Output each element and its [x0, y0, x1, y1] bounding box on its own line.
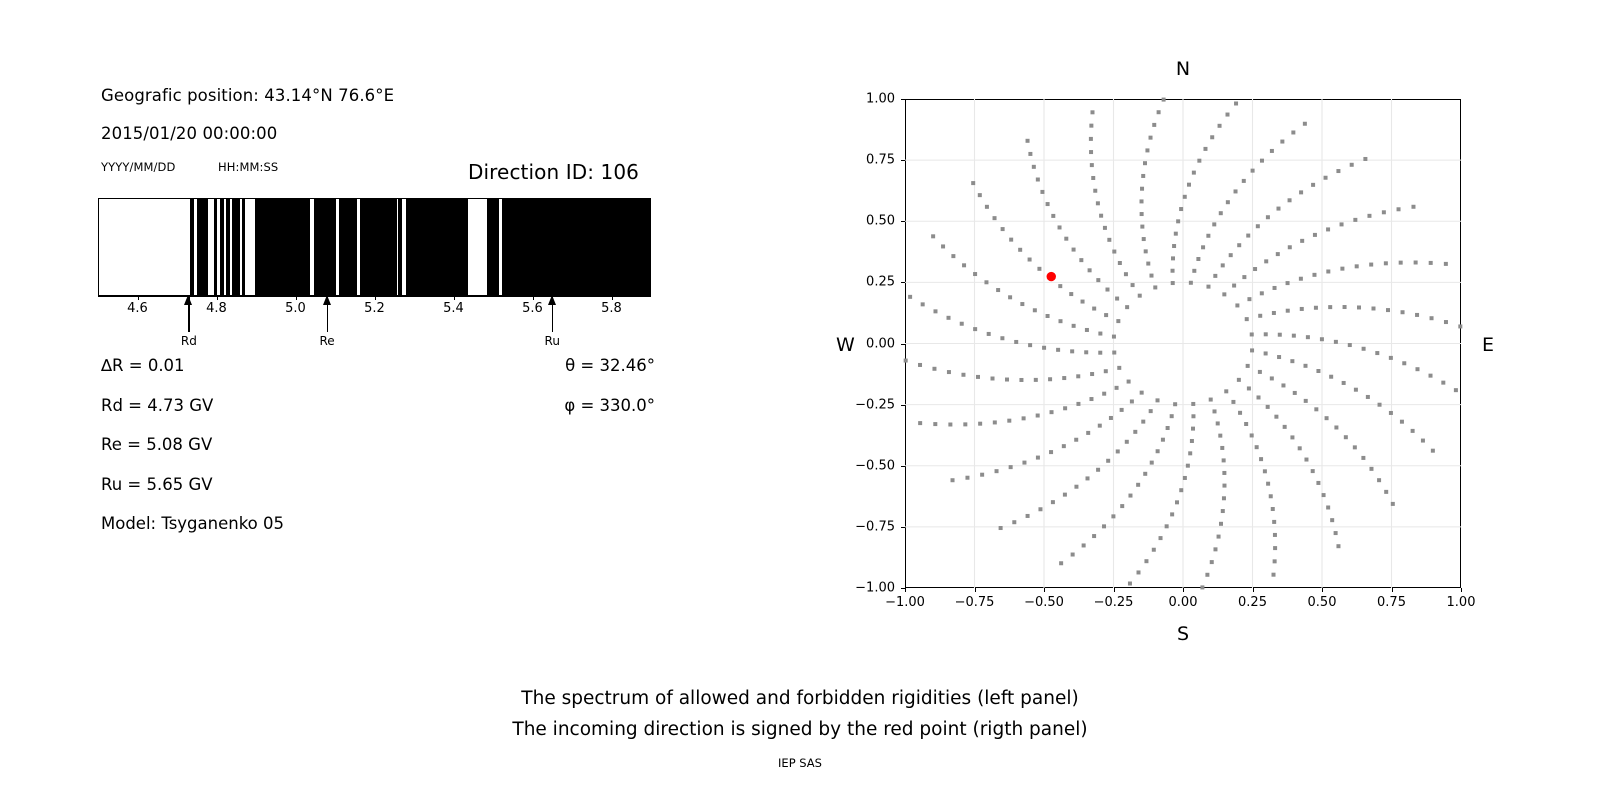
direction-dot: [1276, 207, 1280, 211]
direction-dot: [1037, 267, 1041, 271]
direction-dot: [1056, 348, 1060, 352]
direction-dot: [1293, 391, 1297, 395]
direction-dot: [1400, 420, 1404, 424]
direction-dot: [1074, 485, 1078, 489]
direction-dot: [1141, 174, 1145, 178]
direction-dot: [1271, 507, 1275, 511]
direction-dot: [1096, 201, 1100, 205]
direction-dot: [1238, 411, 1242, 415]
direction-dot: [1200, 585, 1204, 589]
direction-dot: [1222, 458, 1226, 462]
forbidden-band: [226, 199, 230, 295]
direction-dot: [1344, 435, 1348, 439]
direction-dot: [1090, 110, 1094, 114]
direction-dot: [996, 288, 1000, 292]
direction-dot: [1098, 424, 1102, 428]
direction-dot: [1378, 403, 1382, 407]
x-axis-tick: [1392, 588, 1393, 592]
direction-dot: [1048, 377, 1052, 381]
y-axis-tick-label: −0.25: [823, 397, 895, 412]
direction-dot: [1300, 239, 1304, 243]
direction-dot: [951, 254, 955, 258]
y-axis-tick: [901, 344, 905, 345]
direction-dot: [1206, 285, 1210, 289]
direction-dot: [1290, 359, 1294, 363]
direction-dot: [1430, 316, 1434, 320]
direction-dot: [1000, 336, 1004, 340]
direction-dot: [1058, 284, 1062, 288]
direction-dot: [1299, 277, 1303, 281]
direction-dot: [1291, 130, 1295, 134]
direction-dot: [1311, 183, 1315, 187]
forbidden-band: [339, 199, 357, 295]
direction-dot: [1104, 313, 1108, 317]
direction-dot: [1329, 375, 1333, 379]
y-axis-tick-label: 0.00: [823, 336, 895, 351]
direction-dot: [1124, 272, 1128, 276]
direction-dot: [1316, 369, 1320, 373]
direction-dot: [1325, 416, 1329, 420]
direction-dot: [1098, 332, 1102, 336]
direction-dot: [1259, 457, 1263, 461]
direction-dot: [1111, 514, 1115, 518]
direction-dot: [1085, 328, 1089, 332]
direction-dot: [1292, 334, 1296, 338]
direction-dot: [1081, 300, 1085, 304]
direction-dot: [1032, 165, 1036, 169]
rigidity-axis: 4.64.85.05.25.45.65.8RdReRu: [98, 296, 651, 348]
direction-dot: [1298, 446, 1302, 450]
direction-dot: [1328, 305, 1332, 309]
forbidden-band: [314, 199, 336, 295]
direction-dot: [965, 476, 969, 480]
direction-dot: [1072, 324, 1076, 328]
direction-dot: [1389, 356, 1393, 360]
direction-dot: [984, 280, 988, 284]
direction-dot: [1353, 218, 1357, 222]
y-axis-tick-label: 0.25: [823, 275, 895, 290]
direction-dot: [1222, 484, 1226, 488]
direction-dot: [1384, 490, 1388, 494]
rigidity-axis-tick: [217, 296, 218, 300]
rigidity-axis-tick: [612, 296, 613, 300]
direction-dot: [1222, 292, 1226, 296]
direction-dot: [1366, 395, 1370, 399]
direction-dot: [1258, 314, 1262, 318]
direction-dot: [1064, 237, 1068, 241]
direction-dot: [1036, 414, 1040, 418]
direction-dot: [1096, 468, 1100, 472]
direction-dot: [1231, 400, 1235, 404]
direction-dot: [1020, 302, 1024, 306]
direction-dot: [978, 193, 982, 197]
direction-dot: [933, 422, 937, 426]
direction-dot: [1179, 207, 1183, 211]
direction-dot: [1022, 416, 1026, 420]
footer-credit: IEP SAS: [0, 756, 1600, 770]
y-axis-tick-label: −0.75: [823, 519, 895, 534]
direction-dot: [1250, 433, 1254, 437]
direction-dot: [1187, 183, 1191, 187]
direction-dot: [1173, 402, 1177, 406]
direction-dot: [1399, 261, 1403, 265]
arrow-up-icon: [184, 295, 192, 305]
direction-dot: [1062, 444, 1066, 448]
direction-dot: [1421, 439, 1425, 443]
direction-dot: [1191, 427, 1195, 431]
direction-dot: [1051, 500, 1055, 504]
direction-dot: [918, 421, 922, 425]
direction-dot: [1175, 500, 1179, 504]
direction-dot: [991, 376, 995, 380]
direction-dot: [1222, 496, 1226, 500]
direction-dot: [993, 420, 997, 424]
direction-dot: [1429, 374, 1433, 378]
direction-dot: [1218, 434, 1222, 438]
param-phi: φ = 330.0°: [455, 396, 655, 415]
direction-dot: [1218, 124, 1222, 128]
direction-dot: [1089, 150, 1093, 154]
direction-dot: [1367, 214, 1371, 218]
direction-dot: [1311, 469, 1315, 473]
direction-dot: [980, 473, 984, 477]
direction-dot: [1012, 520, 1016, 524]
forbidden-band: [398, 199, 401, 295]
y-axis-tick: [901, 466, 905, 467]
direction-dot: [1402, 361, 1406, 365]
direction-dot: [1221, 509, 1225, 513]
x-axis-tick-label: −0.50: [1024, 595, 1064, 610]
direction-dot: [1334, 531, 1338, 535]
direction-dot: [995, 469, 999, 473]
selected-direction-point[interactable]: [1047, 272, 1056, 281]
y-axis-tick-label: 1.00: [823, 92, 895, 107]
direction-dot: [931, 234, 935, 238]
direction-dot: [1150, 461, 1154, 465]
direction-dot: [1086, 431, 1090, 435]
direction-dot: [1205, 573, 1209, 577]
direction-dot: [1127, 380, 1131, 384]
direction-dot: [976, 375, 980, 379]
direction-dot: [1146, 262, 1150, 266]
direction-dot: [1377, 478, 1381, 482]
direction-dot: [1382, 210, 1386, 214]
y-axis-tick: [901, 282, 905, 283]
direction-dot: [1270, 149, 1274, 153]
direction-dot: [1104, 369, 1108, 373]
direction-dot: [1038, 507, 1042, 511]
direction-dot: [1454, 388, 1458, 392]
y-axis-tick: [901, 99, 905, 100]
direction-dot: [1411, 429, 1415, 433]
direction-dot: [1444, 320, 1448, 324]
direction-dot: [904, 359, 908, 363]
direction-dot: [1036, 456, 1040, 460]
direction-dot: [973, 327, 977, 331]
direction-dot: [1342, 381, 1346, 385]
direction-dot: [1128, 494, 1132, 498]
direction-dot: [1246, 364, 1250, 368]
direction-dot: [1326, 227, 1330, 231]
direction-dot: [1141, 420, 1145, 424]
direction-dot: [1353, 445, 1357, 449]
direction-dot: [1401, 310, 1405, 314]
forbidden-band: [220, 199, 224, 295]
direction-dot: [1389, 411, 1393, 415]
datetime-label: 2015/01/20 00:00:00: [101, 124, 277, 143]
direction-dot: [1361, 456, 1365, 460]
direction-dot: [1244, 422, 1248, 426]
direction-dot: [1357, 305, 1361, 309]
direction-dot: [1128, 582, 1132, 586]
direction-dot: [1290, 435, 1294, 439]
direction-dot: [1348, 343, 1352, 347]
param-re: Re = 5.08 GV: [101, 435, 212, 454]
direction-dot: [1072, 248, 1076, 252]
direction-dot: [1142, 237, 1146, 241]
forbidden-band: [360, 199, 397, 295]
direction-dot: [1324, 176, 1328, 180]
direction-dot: [1260, 159, 1264, 163]
direction-dot: [1153, 285, 1157, 289]
param-model: Model: Tsyganenko 05: [101, 514, 284, 533]
rigidity-axis-tick: [296, 296, 297, 300]
direction-dot: [1216, 421, 1220, 425]
direction-dot: [1079, 258, 1083, 262]
direction-dot: [1274, 415, 1278, 419]
direction-dot: [1143, 472, 1147, 476]
param-delta-r: ∆R = 0.01: [101, 356, 185, 375]
direction-dot: [1174, 232, 1178, 236]
forbidden-band: [487, 199, 499, 295]
direction-dot: [1007, 419, 1011, 423]
geographic-position-label: Geografic position: 43.14°N 76.6°E: [101, 86, 394, 105]
forbidden-band: [406, 199, 468, 295]
direction-dot: [1157, 110, 1161, 114]
x-axis-tick: [1461, 588, 1462, 592]
direction-dot: [1369, 263, 1373, 267]
direction-dot: [1152, 123, 1156, 127]
y-axis-tick-label: −1.00: [823, 581, 895, 596]
x-axis-tick: [1253, 588, 1254, 592]
direction-dot: [1170, 512, 1174, 516]
direction-dot: [1026, 139, 1030, 143]
rigidity-axis-tick-label: 5.0: [285, 301, 306, 316]
direction-dot: [1266, 405, 1270, 409]
direction-dot: [971, 181, 975, 185]
direction-dot: [1022, 461, 1026, 465]
forbidden-band: [502, 199, 652, 295]
x-axis-tick-label: 0.75: [1377, 595, 1406, 610]
rigidity-axis-tick-label: 4.8: [206, 301, 227, 316]
direction-dot: [941, 244, 945, 248]
direction-dot: [1314, 306, 1318, 310]
rigidity-axis-tick: [375, 296, 376, 300]
direction-dot: [1203, 147, 1207, 151]
direction-dot: [1237, 243, 1241, 247]
direction-dot: [999, 526, 1003, 530]
direction-dot: [1028, 152, 1032, 156]
direction-dot: [1340, 222, 1344, 226]
direction-dot: [1120, 504, 1124, 508]
direction-dot: [1102, 392, 1106, 396]
direction-dot: [1242, 275, 1246, 279]
direction-dot: [962, 263, 966, 267]
direction-dot: [1117, 366, 1121, 370]
direction-dot: [1266, 215, 1270, 219]
direction-dot: [1213, 409, 1217, 413]
direction-dot: [1116, 449, 1120, 453]
direction-dot: [1258, 370, 1262, 374]
rigidity-axis-tick-label: 5.2: [364, 301, 385, 316]
direction-dot: [1264, 351, 1268, 355]
direction-dot: [1005, 378, 1009, 382]
direction-dot: [1089, 397, 1093, 401]
forbidden-band: [190, 199, 194, 295]
direction-dot: [1269, 494, 1273, 498]
direction-dot: [1397, 207, 1401, 211]
direction-dot: [947, 316, 951, 320]
x-axis-tick-label: 1.00: [1447, 595, 1476, 610]
direction-dot: [1098, 351, 1102, 355]
direction-dot: [1415, 367, 1419, 371]
gridlines: [905, 99, 1461, 588]
direction-dot: [1278, 333, 1282, 337]
direction-dot: [1112, 335, 1116, 339]
direction-dot: [1415, 313, 1419, 317]
direction-dot: [1304, 399, 1308, 403]
direction-dot: [1165, 524, 1169, 528]
direction-dot: [1074, 438, 1078, 442]
direction-dot: [1138, 294, 1142, 298]
direction-dot: [1120, 408, 1124, 412]
direction-dot: [1264, 259, 1268, 263]
direction-dot: [1131, 283, 1135, 287]
direction-dot: [1143, 161, 1147, 165]
direction-dot: [1099, 214, 1103, 218]
direction-dot: [1429, 261, 1433, 265]
direction-dot: [1272, 520, 1276, 524]
direction-dot: [1286, 309, 1290, 313]
direction-dot: [1375, 351, 1379, 355]
direction-dot: [1009, 465, 1013, 469]
direction-dot: [1251, 169, 1255, 173]
direction-dot: [1063, 406, 1067, 410]
direction-dot: [960, 322, 964, 326]
direction-dot: [951, 478, 955, 482]
direction-dot: [947, 370, 951, 374]
direction-dot: [1076, 374, 1080, 378]
direction-dot: [1220, 446, 1224, 450]
direction-dot: [1391, 502, 1395, 506]
direction-dot: [1191, 402, 1195, 406]
param-theta: θ = 32.46°: [455, 356, 655, 375]
direction-dot: [1221, 263, 1225, 267]
direction-dot: [1272, 311, 1276, 315]
direction-dot: [948, 423, 952, 427]
direction-dot: [1179, 488, 1183, 492]
x-axis-tick: [1044, 588, 1045, 592]
direction-dot: [1116, 319, 1120, 323]
direction-dot: [1411, 205, 1415, 209]
rigidity-spectrum-panel: [98, 198, 651, 296]
direction-dot: [1273, 286, 1277, 290]
direction-dot: [1334, 340, 1338, 344]
direction-dot: [1209, 398, 1213, 402]
direction-dot: [1197, 159, 1201, 163]
direction-dot: [1234, 189, 1238, 193]
direction-dot: [1170, 414, 1174, 418]
compass-label-east: E: [1482, 334, 1494, 356]
direction-dot: [1266, 482, 1270, 486]
direction-dot: [1107, 238, 1111, 242]
direction-dot: [1145, 148, 1149, 152]
direction-dot: [1183, 195, 1187, 199]
rigidity-axis-tick: [454, 296, 455, 300]
direction-dot: [1336, 169, 1340, 173]
direction-dot: [1316, 481, 1320, 485]
direction-dot: [1046, 314, 1050, 318]
direction-dot: [1444, 262, 1448, 266]
direction-dot: [1140, 391, 1144, 395]
direction-dot: [1250, 348, 1254, 352]
direction-dot: [1192, 171, 1196, 175]
direction-dot: [1156, 398, 1160, 402]
direction-dot: [1161, 438, 1165, 442]
direction-dot: [1156, 449, 1160, 453]
x-axis-tick-label: 0.00: [1169, 595, 1198, 610]
direction-dot: [963, 422, 967, 426]
direction-dot: [1313, 233, 1317, 237]
direction-dot: [1196, 257, 1200, 261]
direction-dot: [1222, 471, 1226, 475]
rigidity-axis-tick-label: 5.6: [522, 301, 543, 316]
figure-canvas: Geografic position: 43.14°N 76.6°E 2015/…: [0, 0, 1600, 800]
y-axis-tick: [901, 527, 905, 528]
direction-dot: [1019, 378, 1023, 382]
direction-dot: [1144, 559, 1148, 563]
x-axis-tick-label: 0.50: [1308, 595, 1337, 610]
direction-dot: [932, 367, 936, 371]
direction-dot: [1191, 414, 1195, 418]
direction-dot: [1144, 249, 1148, 253]
direction-dot: [1210, 135, 1214, 139]
direction-dot: [1058, 319, 1062, 323]
direction-dot: [1362, 347, 1366, 351]
x-axis-tick: [1322, 588, 1323, 592]
direction-dot: [1136, 483, 1140, 487]
direction-dot: [1213, 547, 1217, 551]
compass-label-north: N: [1176, 58, 1190, 80]
direction-dot: [1192, 269, 1196, 273]
marker-label: Ru: [545, 334, 560, 348]
marker-label: Rd: [181, 334, 197, 348]
direction-dot: [1253, 267, 1257, 271]
direction-dot: [1242, 179, 1246, 183]
forbidden-band: [242, 199, 245, 295]
direction-dot: [918, 363, 922, 367]
direction-dot: [1172, 244, 1176, 248]
forbidden-band: [255, 199, 310, 295]
direction-dot: [1212, 222, 1216, 226]
direction-dot: [1149, 274, 1153, 278]
direction-dot: [1059, 561, 1063, 565]
direction-dot: [1255, 445, 1259, 449]
direction-dot: [1304, 364, 1308, 368]
direction-dot: [1384, 261, 1388, 265]
direction-dot: [1273, 533, 1277, 537]
direction-dot: [1086, 476, 1090, 480]
